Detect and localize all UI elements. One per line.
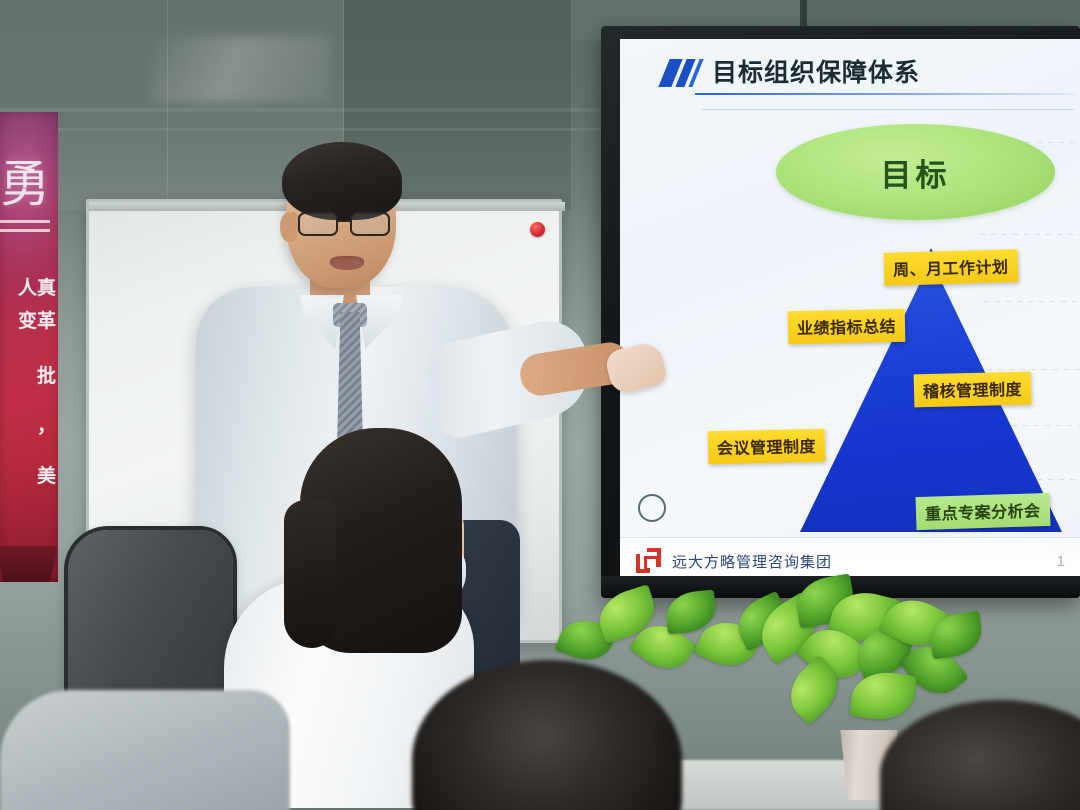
red-magnet-icon — [530, 222, 545, 237]
screenshot-scene: 勇 人真 变革 批 ， 美 目标组织保障体系 — [0, 0, 1080, 810]
banner-rule-top — [0, 220, 50, 223]
pyramid-label-2: 业绩指标总结 — [788, 309, 906, 344]
slide-title: 目标组织保障体系 — [712, 53, 920, 89]
pyramid-label-4: 会议管理制度 — [708, 429, 826, 464]
slide-page-number: 1 — [1057, 553, 1065, 570]
glass-sheen-left — [150, 36, 330, 102]
banner-rule-bottom — [0, 229, 50, 232]
slide-title-underline — [695, 93, 1075, 95]
banner-line-2: 变革 — [18, 312, 56, 331]
presenter-mouth — [330, 256, 364, 270]
circle-outline-icon[interactable] — [638, 494, 666, 522]
banner-line-4: ， — [37, 417, 56, 436]
slide-secondary-rule — [702, 109, 1074, 110]
banner-line-1: 人真 — [18, 279, 56, 298]
foreground-shoulder — [0, 690, 290, 810]
pyramid-label-3: 稽核管理制度 — [914, 372, 1032, 408]
goal-label: 目标 — [881, 150, 951, 195]
red-square-spiral-logo-icon — [636, 548, 661, 573]
footer-company-name: 远大方略管理咨询集团 — [672, 551, 832, 572]
blue-slash-logo-icon — [664, 59, 702, 87]
slide-gridline — [980, 234, 1080, 235]
pyramid-label-5: 重点专案分析会 — [916, 493, 1050, 530]
banner-base — [0, 546, 58, 582]
red-rollup-banner: 勇 人真 变革 批 ， 美 — [0, 112, 58, 582]
seated-woman-hair-side — [284, 500, 336, 648]
presentation-display[interactable]: 目标组织保障体系 目标 周、月工作计划 业绩指标总结 稽核管理制度 会议管理制度… — [601, 26, 1080, 598]
goal-ellipse: 目标 — [776, 124, 1055, 220]
banner-glyph: 勇 — [0, 144, 46, 216]
slide-canvas[interactable]: 目标组织保障体系 目标 周、月工作计划 业绩指标总结 稽核管理制度 会议管理制度… — [620, 39, 1080, 584]
presenter-hair — [282, 142, 402, 220]
pyramid-label-1: 周、月工作计划 — [884, 249, 1018, 286]
banner-line-5: 美 — [37, 467, 56, 486]
banner-line-3: 批 — [37, 367, 56, 386]
presenter-glasses-icon — [296, 212, 398, 238]
slide-header: 目标组织保障体系 — [620, 47, 1080, 101]
